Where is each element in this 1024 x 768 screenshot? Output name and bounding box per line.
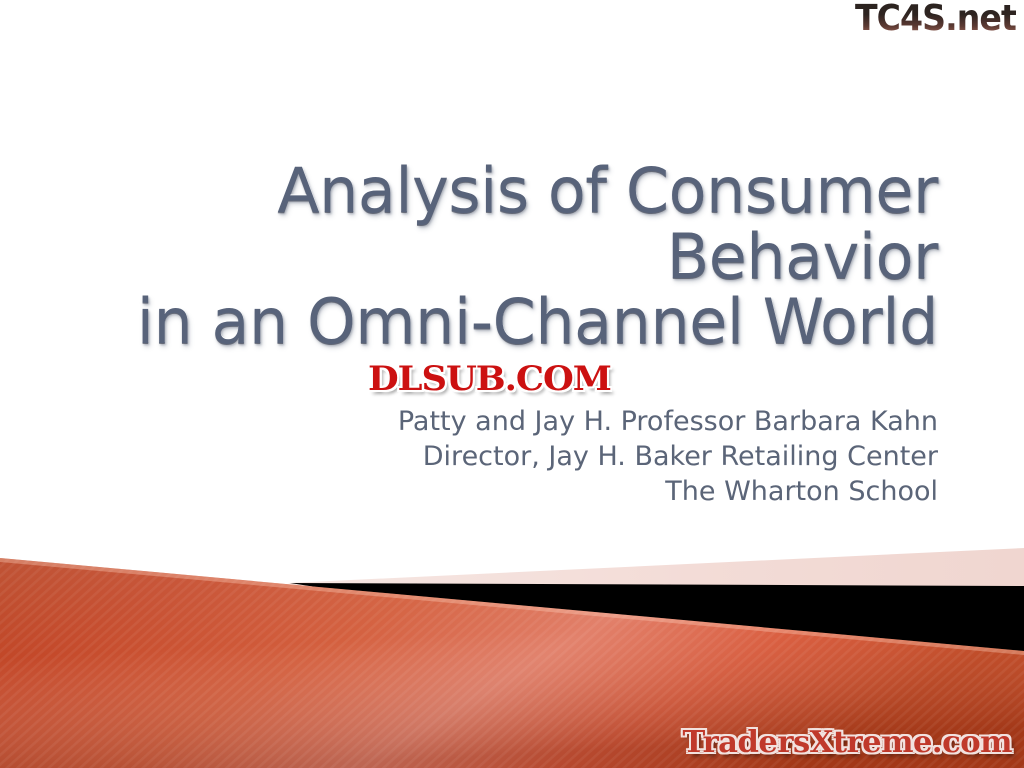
banner-orange-edge-highlight [0, 558, 1024, 655]
presentation-slide: TC4S.net Analysis of Consumer Behavior i… [0, 0, 1024, 768]
page-title: Analysis of Consumer Behavior in an Omni… [60, 158, 938, 355]
dlsub-watermark: DLSUB.COM [368, 362, 611, 396]
title-line-1: Analysis of Consumer [60, 158, 938, 224]
subtitle-line-presenter: Patty and Jay H. Professor Barbara Kahn [60, 404, 938, 439]
tradersxtreme-watermark: TradersXtreme.com [683, 728, 1012, 758]
tc4s-watermark: TC4S.net [855, 1, 1016, 37]
banner-pink-wedge [288, 548, 1024, 586]
title-line-3: in an Omni-Channel World [60, 289, 938, 355]
subtitle-line-institution: The Wharton School [60, 474, 938, 509]
slide-subtitle: Patty and Jay H. Professor Barbara Kahn … [60, 404, 938, 509]
title-line-2: Behavior [60, 224, 938, 290]
subtitle-line-role: Director, Jay H. Baker Retailing Center [60, 439, 938, 474]
banner-black-wedge [290, 583, 1024, 664]
